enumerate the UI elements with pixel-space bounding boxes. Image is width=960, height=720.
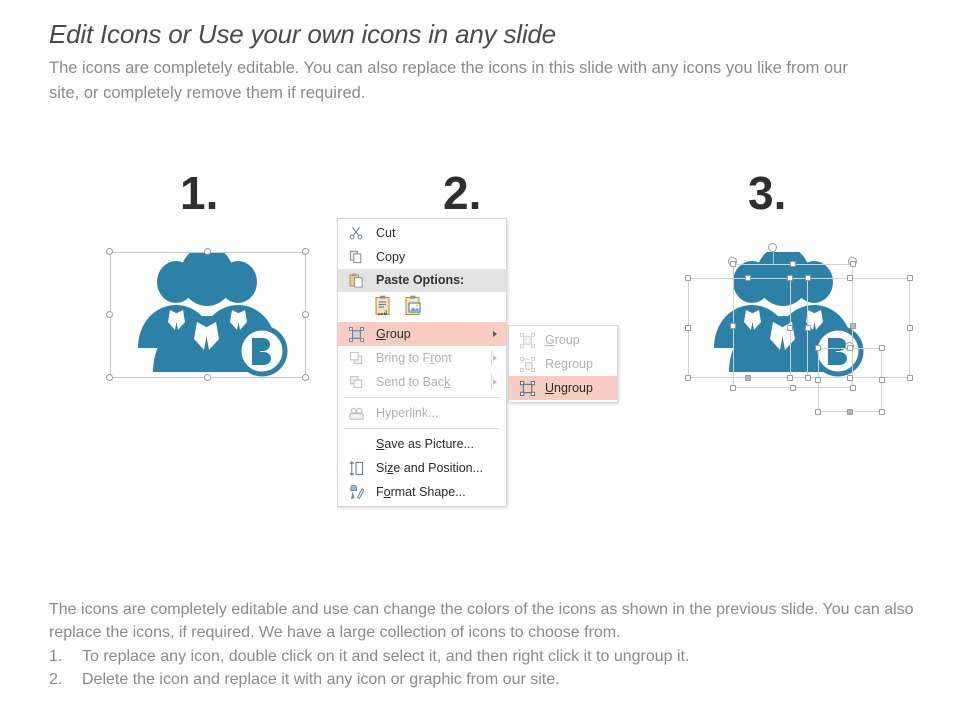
submenu-item-ungroup[interactable]: Ungroup [509, 376, 617, 400]
sub-handle-w-right[interactable] [787, 325, 793, 331]
selection-handle-n[interactable] [204, 248, 211, 255]
sub-handle-w-left[interactable] [685, 325, 691, 331]
step-number-3: 3. [748, 170, 786, 216]
clipboard-icon [346, 272, 366, 290]
sub-handle-nw-badge[interactable] [815, 345, 821, 351]
sub-handle-s-right[interactable] [847, 375, 853, 381]
sub-handle-ne-left[interactable] [805, 275, 811, 281]
footer-text-block: The icons are completely editable and us… [49, 598, 929, 691]
menu-item-bring-to-front[interactable]: Bring to Front [338, 346, 506, 370]
format-shape-icon [346, 483, 366, 501]
sub-handle-se-right[interactable] [907, 375, 913, 381]
footer-list-item-number: 1. [49, 645, 82, 668]
submenu-item-regroup[interactable]: Regroup [509, 352, 617, 376]
submenu-item-group[interactable]: Group [509, 328, 617, 352]
sub-handle-ne-badge[interactable] [879, 345, 885, 351]
footer-paragraph: The icons are completely editable and us… [49, 598, 929, 644]
sub-handle-s-left[interactable] [745, 375, 751, 381]
people-group-icon-1[interactable] [112, 252, 302, 380]
footer-list-item: 2. Delete the icon and replace it with a… [49, 668, 929, 691]
sub-handle-sw-badge[interactable] [815, 409, 821, 415]
paste-keep-source-formatting-button[interactable]: a [374, 295, 394, 319]
sub-handle-se-left[interactable] [805, 375, 811, 381]
menu-item-paste-options: Paste Options: [338, 269, 506, 292]
sub-handle-n-badge[interactable] [847, 345, 853, 351]
sub-handle-sw-right[interactable] [787, 375, 793, 381]
footer-list-item-text: Delete the icon and replace it with any … [82, 668, 560, 691]
sub-handle-se-badge[interactable] [879, 409, 885, 415]
selection-handle-w[interactable] [106, 311, 113, 318]
menu-item-size-and-position-label: Size and Position... [376, 462, 483, 475]
size-position-icon [346, 459, 366, 477]
sub-handle-nw-left[interactable] [685, 275, 691, 281]
menu-divider-line [491, 374, 492, 390]
submenu-item-group-label: Group [545, 334, 580, 347]
menu-item-save-as-picture[interactable]: Save as Picture... [338, 432, 506, 456]
rotation-handle-center[interactable] [768, 243, 777, 252]
rotation-stem-center [773, 250, 774, 264]
sub-handle-s-badge[interactable] [847, 409, 853, 415]
submenu-arrow-icon [493, 355, 497, 361]
menu-item-format-shape[interactable]: Format Shape... [338, 480, 506, 504]
menu-item-hyperlink-label: Hyperlink... [376, 407, 439, 420]
sub-handle-se-center[interactable] [850, 385, 856, 391]
copy-icon [346, 248, 366, 266]
footer-list-item-number: 2. [49, 668, 82, 691]
selection-handle-e[interactable] [302, 311, 309, 318]
menu-item-send-to-back-label: Send to Back [376, 376, 450, 389]
submenu-arrow-icon [493, 331, 497, 337]
menu-item-cut[interactable]: Cut [338, 221, 506, 245]
sub-handle-n-center[interactable] [790, 261, 796, 267]
selection-handle-se[interactable] [302, 374, 309, 381]
menu-item-copy[interactable]: Copy [338, 245, 506, 269]
hyperlink-icon [346, 404, 366, 422]
selection-handle-nw[interactable] [106, 248, 113, 255]
group-icon [517, 331, 537, 349]
sub-handle-ne-center[interactable] [850, 261, 856, 267]
sub-handle-n-right[interactable] [847, 275, 853, 281]
page-title: Edit Icons or Use your own icons in any … [49, 19, 556, 50]
slide-canvas: Edit Icons or Use your own icons in any … [0, 0, 960, 720]
menu-item-hyperlink[interactable]: Hyperlink... [338, 401, 506, 425]
sub-handle-w-badge[interactable] [815, 377, 821, 383]
footer-list: 1. To replace any icon, double click on … [49, 645, 929, 691]
context-menu[interactable]: Cut Copy Paste Options: [337, 218, 507, 507]
footer-list-item: 1. To replace any icon, double click on … [49, 645, 929, 668]
submenu-item-ungroup-label: Ungroup [545, 382, 593, 395]
menu-item-copy-label: Copy [376, 251, 405, 264]
paste-picture-button[interactable] [404, 295, 424, 319]
sub-handle-n-left[interactable] [745, 275, 751, 281]
menu-item-format-shape-label: Format Shape... [376, 486, 466, 499]
sub-handle-e-right[interactable] [907, 325, 913, 331]
sub-handle-w-center[interactable] [730, 323, 736, 329]
menu-item-size-and-position[interactable]: Size and Position... [338, 456, 506, 480]
sub-handle-sw-center[interactable] [730, 385, 736, 391]
menu-item-paste-options-label: Paste Options: [376, 274, 464, 287]
menu-divider-line [491, 350, 492, 366]
people-group-icon-3[interactable] [688, 252, 878, 380]
selection-handle-sw[interactable] [106, 374, 113, 381]
sub-handle-sw-left[interactable] [685, 375, 691, 381]
scissors-icon [346, 224, 366, 242]
group-submenu[interactable]: Group Regroup [508, 325, 618, 403]
bring-to-front-icon [346, 349, 366, 367]
menu-item-group-label: Group [376, 328, 411, 341]
sub-handle-e-left[interactable] [805, 325, 811, 331]
selection-handle-s[interactable] [204, 374, 211, 381]
sub-handle-e-center[interactable] [850, 323, 856, 329]
sub-handle-e-badge[interactable] [879, 377, 885, 383]
group-icon [346, 325, 366, 343]
regroup-icon [517, 355, 537, 373]
menu-separator [344, 397, 500, 398]
menu-item-save-as-picture-label: Save as Picture... [376, 438, 474, 451]
menu-item-send-to-back[interactable]: Send to Back [338, 370, 506, 394]
no-icon [346, 435, 366, 453]
send-to-back-icon [346, 373, 366, 391]
sub-handle-nw-right[interactable] [787, 275, 793, 281]
ungroup-icon [517, 379, 537, 397]
sub-handle-ne-right[interactable] [907, 275, 913, 281]
menu-item-bring-to-front-label: Bring to Front [376, 352, 452, 365]
page-subtitle: The icons are completely editable. You c… [49, 56, 879, 106]
menu-separator [344, 428, 500, 429]
step-number-1: 1. [180, 170, 218, 216]
submenu-item-regroup-label: Regroup [545, 358, 593, 371]
menu-item-cut-label: Cut [376, 227, 395, 240]
step-number-2: 2. [443, 170, 481, 216]
footer-list-item-text: To replace any icon, double click on it … [82, 645, 689, 668]
menu-item-group[interactable]: Group [338, 322, 506, 346]
sub-handle-nw-center[interactable] [730, 261, 736, 267]
selection-handle-ne[interactable] [302, 248, 309, 255]
paste-options-buttons: a [338, 292, 506, 322]
sub-handle-s-center[interactable] [790, 385, 796, 391]
submenu-arrow-icon [493, 379, 497, 385]
